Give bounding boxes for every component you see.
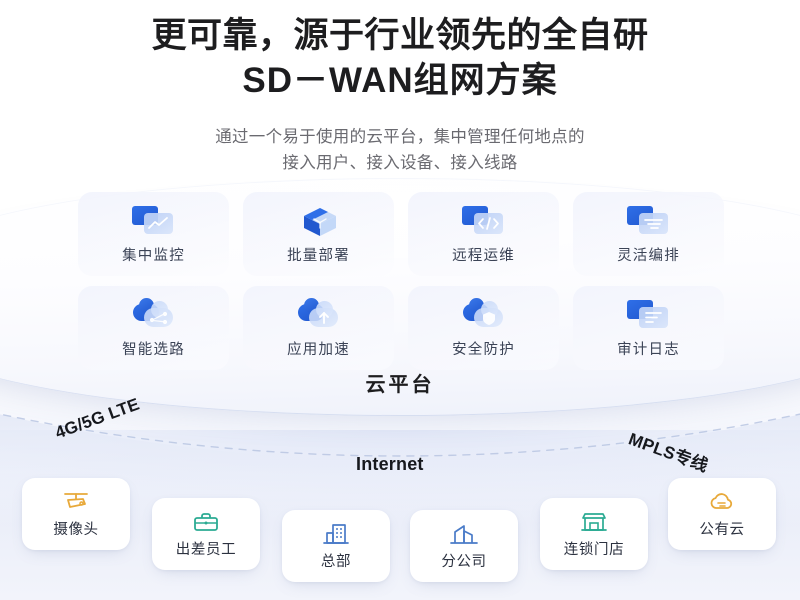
cloud-shield-icon [461, 298, 507, 332]
feature-label: 远程运维 [452, 244, 515, 265]
feature-grid: 集中监控 批量部署 [78, 192, 724, 370]
hq-building-icon [319, 521, 353, 547]
device-card-chain-store[interactable]: 连锁门店 [540, 498, 648, 570]
device-card-public-cloud[interactable]: 公有云 [668, 478, 776, 550]
device-card-camera[interactable]: 摄像头 [22, 478, 130, 550]
feature-label: 审计日志 [617, 338, 680, 359]
briefcase-icon [189, 509, 223, 535]
feature-label: 批量部署 [287, 244, 350, 265]
feature-label: 灵活编排 [617, 244, 680, 265]
device-label: 分公司 [441, 550, 486, 571]
feature-card-flexible-orchestration[interactable]: 灵活编排 [573, 192, 724, 276]
feature-label: 集中监控 [122, 244, 185, 265]
feature-label: 安全防护 [452, 338, 515, 359]
feature-label: 应用加速 [287, 338, 350, 359]
feature-card-smart-routing[interactable]: 智能选路 [78, 286, 229, 370]
device-card-mobile-employee[interactable]: 出差员工 [152, 498, 260, 570]
cloud-platform-label: 云平台 [0, 368, 800, 397]
device-label: 摄像头 [53, 518, 98, 539]
log-card-icon [626, 298, 672, 332]
hero-subtitle-line1: 通过一个易于使用的云平台，集中管理任何地点的 [0, 124, 800, 151]
code-card-icon [461, 204, 507, 238]
cloud-route-icon [131, 298, 177, 332]
device-card-headquarters[interactable]: 总部 [282, 510, 390, 582]
device-label: 出差员工 [176, 538, 236, 559]
feature-card-security-protection[interactable]: 安全防护 [408, 286, 559, 370]
page-title-line2: SD－WAN组网方案 [0, 59, 800, 104]
hero-section: 更可靠，源于行业领先的全自研 SD－WAN组网方案 通过一个易于使用的云平台，集… [0, 0, 800, 177]
page-title-line1: 更可靠，源于行业领先的全自研 [0, 14, 800, 59]
storefront-icon [577, 509, 611, 535]
branch-office-icon [447, 521, 481, 547]
public-cloud-icon [705, 489, 739, 515]
feature-card-remote-ops[interactable]: 远程运维 [408, 192, 559, 276]
network-label-internet: Internet [356, 454, 424, 475]
device-card-branch-office[interactable]: 分公司 [410, 510, 518, 582]
device-label: 总部 [321, 550, 351, 571]
sdwan-marketing-page: 更可靠，源于行业领先的全自研 SD－WAN组网方案 通过一个易于使用的云平台，集… [0, 0, 800, 600]
monitor-card-icon [131, 204, 177, 238]
cube-box-icon [296, 204, 342, 238]
hero-subtitle-line2: 接入用户、接入设备、接入线路 [0, 150, 800, 177]
feature-card-app-acceleration[interactable]: 应用加速 [243, 286, 394, 370]
feature-card-batch-deployment[interactable]: 批量部署 [243, 192, 394, 276]
feature-card-centralized-monitoring[interactable]: 集中监控 [78, 192, 229, 276]
hero-subtitle: 通过一个易于使用的云平台，集中管理任何地点的 接入用户、接入设备、接入线路 [0, 124, 800, 177]
feature-card-audit-log[interactable]: 审计日志 [573, 286, 724, 370]
device-label: 连锁门店 [564, 538, 624, 559]
layers-card-icon [626, 204, 672, 238]
cctv-camera-icon [59, 489, 93, 515]
feature-label: 智能选路 [122, 338, 185, 359]
cloud-upload-icon [296, 298, 342, 332]
device-label: 公有云 [699, 518, 744, 539]
